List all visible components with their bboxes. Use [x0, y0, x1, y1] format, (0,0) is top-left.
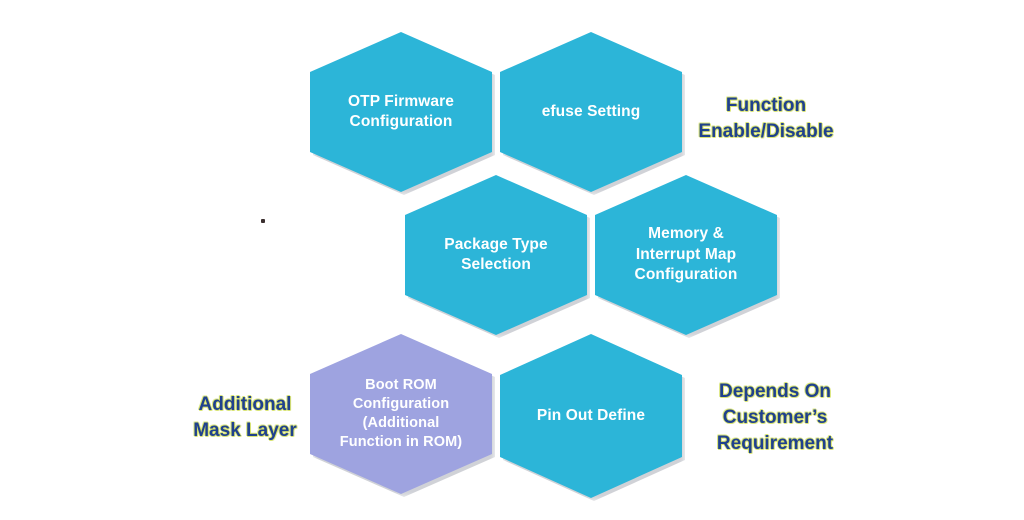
diagram-canvas: OTP FirmwareConfigurationefuse SettingPa… [0, 0, 1024, 520]
hexagon-label-boot-rom-configuration: Boot ROMConfiguration(AdditionalFunction… [330, 376, 472, 451]
hexagon-label-efuse-setting: efuse Setting [532, 102, 651, 122]
annotation-depends-on-customers-requirement: Depends OnCustomer’sRequirement [700, 379, 850, 458]
hexagon-label-pin-out-define: Pin Out Define [527, 406, 655, 426]
annotation-function-enable-disable: FunctionEnable/Disable [686, 93, 846, 145]
hexagon-label-package-type-selection: Package TypeSelection [434, 235, 557, 276]
hexagon-label-otp-firmware-configuration: OTP FirmwareConfiguration [338, 92, 464, 133]
hexagon-label-memory-interrupt-map-configuration: Memory &Interrupt MapConfiguration [625, 224, 748, 285]
annotation-additional-mask-layer: AdditionalMask Layer [175, 392, 315, 444]
mark-stray-dot [261, 219, 265, 223]
